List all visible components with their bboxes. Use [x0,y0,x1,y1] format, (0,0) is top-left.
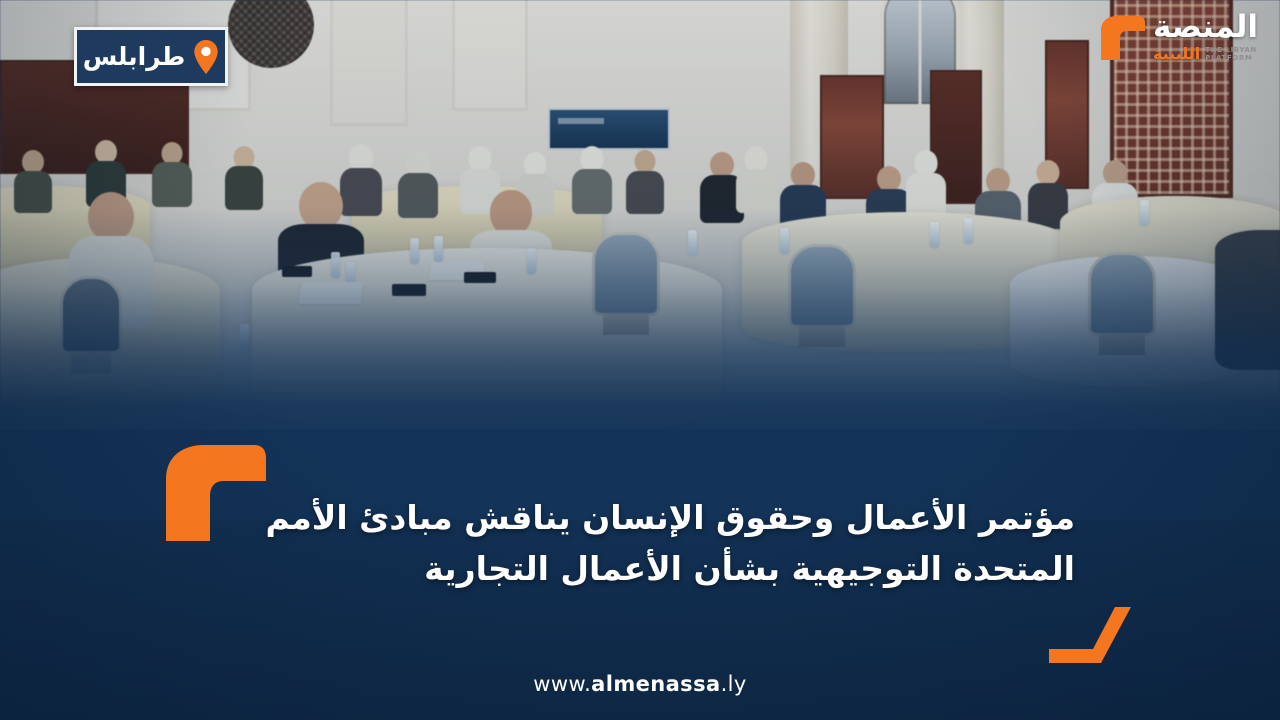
corner-bracket-icon [1043,605,1135,667]
logo-sub-text: الليبية [1153,46,1200,62]
attendee [398,150,438,216]
headline-text: مؤتمر الأعمال وحقوق الإنسان يناقش مبادئ … [205,492,1075,594]
logo-text-group: المنصة THE LIBYAN PLATFORM الليبية [1153,12,1258,62]
attendee [626,150,664,212]
attendee [225,146,263,208]
website-url[interactable]: www.almenassa.ly [0,672,1280,696]
attendee [572,146,612,212]
attendee [152,142,192,206]
banquet-chair [592,232,660,316]
banquet-chair [60,276,122,354]
attendee [14,150,52,212]
map-pin-icon [193,40,219,74]
device [392,284,426,296]
news-card: طرابلس المنصة THE LIBYAN PLATFORM الليبي… [0,0,1280,720]
water-bottle [527,248,536,274]
device [464,272,496,283]
wall-panel [452,0,528,111]
location-badge[interactable]: طرابلس [74,27,228,86]
water-bottle [930,222,939,248]
url-brand: almenassa [591,672,720,696]
device [282,266,312,277]
presentation-screen [548,108,670,150]
banquet-chair [1088,252,1156,336]
water-bottle [240,324,249,350]
wall-panel [330,0,408,126]
water-bottle [1140,200,1149,226]
attendee [906,150,946,214]
url-suffix: .ly [721,672,747,696]
location-label: طرابلس [83,44,186,69]
water-bottle [964,218,973,244]
paper-sheet [298,282,363,304]
logo-english-text: THE LIBYAN PLATFORM [1205,46,1257,62]
water-bottle [434,236,443,262]
water-bottle [410,238,419,264]
water-bottle [688,230,697,256]
logo-bracket-mark [1095,14,1147,60]
banquet-table-dark [1215,230,1280,370]
water-bottle [331,252,340,278]
attendee [736,146,776,210]
url-prefix: www. [533,672,591,696]
water-bottle [780,228,789,254]
logo-main-text: المنصة [1153,12,1258,43]
site-logo[interactable]: المنصة THE LIBYAN PLATFORM الليبية [1095,12,1258,62]
banquet-chair [788,244,856,328]
logo-sub-row: THE LIBYAN PLATFORM الليبية [1153,46,1258,62]
